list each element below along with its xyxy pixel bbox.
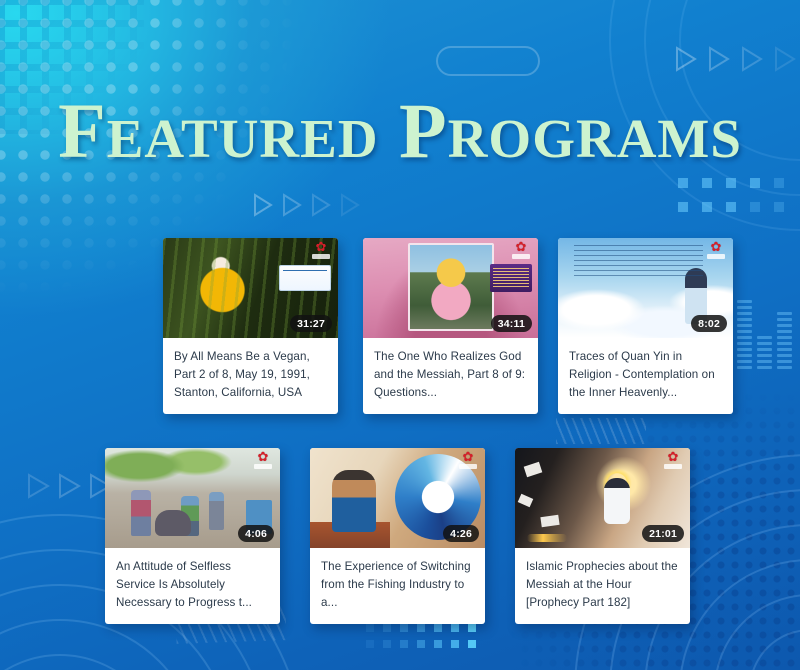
page-title: Featured Programs [0, 92, 800, 170]
square-dot [774, 202, 784, 212]
triangle-icon [687, 46, 708, 72]
channel-logo-icon: ✿ [509, 241, 533, 263]
program-card-body: Islamic Prophecies about the Messiah at … [515, 548, 690, 624]
square-dot [726, 178, 736, 188]
duration-badge: 21:01 [642, 525, 684, 542]
equalizer-column [737, 300, 752, 369]
triangle-icon [261, 192, 282, 218]
program-card[interactable]: ✿ 34:11 The One Who Realizes God and the… [363, 238, 538, 414]
pill-outline-shape [436, 46, 540, 76]
program-thumbnail[interactable]: ✿ 31:27 [163, 238, 338, 338]
square-dot [678, 202, 688, 212]
program-card[interactable]: ✿ 8:02 Traces of Quan Yin in Religion - … [558, 238, 733, 414]
duration-badge: 34:11 [491, 315, 532, 332]
program-card-body: An Attitude of Selfless Service Is Absol… [105, 548, 280, 624]
triangle-icon [753, 46, 774, 72]
triangle-row-top [654, 46, 774, 72]
channel-logo-icon: ✿ [661, 451, 685, 473]
program-card[interactable]: ✿ 21:01 Islamic Prophecies about the Mes… [515, 448, 690, 624]
triangle-icon [37, 472, 58, 498]
program-title[interactable]: An Attitude of Selfless Service Is Absol… [116, 558, 269, 612]
program-card-body: The Experience of Switching from the Fis… [310, 548, 485, 624]
program-thumbnail[interactable]: ✿ 21:01 [515, 448, 690, 548]
square-grid-bottom-center [366, 624, 476, 648]
program-card-body: The One Who Realizes God and the Messiah… [363, 338, 538, 414]
program-thumbnail[interactable]: ✿ 8:02 [558, 238, 733, 338]
triangle-icon [654, 46, 675, 72]
square-dot [750, 202, 760, 212]
equalizer-column [777, 312, 792, 369]
program-title[interactable]: Islamic Prophecies about the Messiah at … [526, 558, 679, 612]
duration-badge: 31:27 [290, 315, 332, 332]
duration-badge: 4:06 [238, 525, 274, 542]
program-title[interactable]: Traces of Quan Yin in Religion - Contemp… [569, 348, 722, 402]
program-card[interactable]: ✿ 4:26 The Experience of Switching from … [310, 448, 485, 624]
program-card-body: Traces of Quan Yin in Religion - Contemp… [558, 338, 733, 414]
program-thumbnail[interactable]: ✿ 4:06 [105, 448, 280, 548]
square-dot [702, 202, 712, 212]
program-thumbnail[interactable]: ✿ 4:26 [310, 448, 485, 548]
square-grid-top-right [678, 178, 784, 212]
triangle-icon [6, 472, 27, 498]
duration-badge: 4:26 [443, 525, 479, 542]
program-title[interactable]: By All Means Be a Vegan, Part 2 of 8, Ma… [174, 348, 327, 402]
square-dot [750, 178, 760, 188]
program-thumbnail[interactable]: ✿ 34:11 [363, 238, 538, 338]
channel-logo-icon: ✿ [456, 451, 480, 473]
square-dot [702, 178, 712, 188]
triangle-row-middle [232, 192, 340, 218]
channel-logo-icon: ✿ [309, 241, 333, 263]
program-card[interactable]: ✿ 31:27 By All Means Be a Vegan, Part 2 … [163, 238, 338, 414]
channel-logo-icon: ✿ [251, 451, 275, 473]
equalizer-column [757, 336, 772, 369]
triangle-row-left [6, 472, 89, 498]
triangle-icon [232, 192, 253, 218]
program-card-body: By All Means Be a Vegan, Part 2 of 8, Ma… [163, 338, 338, 414]
program-card[interactable]: ✿ 4:06 An Attitude of Selfless Service I… [105, 448, 280, 624]
triangle-icon [319, 192, 340, 218]
featured-programs-banner: Featured Programs ✿ 31:27 By All Means B… [0, 0, 800, 670]
duration-badge: 8:02 [691, 315, 727, 332]
square-dot [726, 202, 736, 212]
program-title[interactable]: The One Who Realizes God and the Messiah… [374, 348, 527, 402]
triangle-icon [68, 472, 89, 498]
triangle-icon [290, 192, 311, 218]
square-dot [678, 178, 688, 188]
triangle-icon [720, 46, 741, 72]
channel-logo-icon: ✿ [704, 241, 728, 263]
square-dot [774, 178, 784, 188]
diagonal-hatch-middle-right [556, 418, 646, 444]
program-title[interactable]: The Experience of Switching from the Fis… [321, 558, 474, 612]
